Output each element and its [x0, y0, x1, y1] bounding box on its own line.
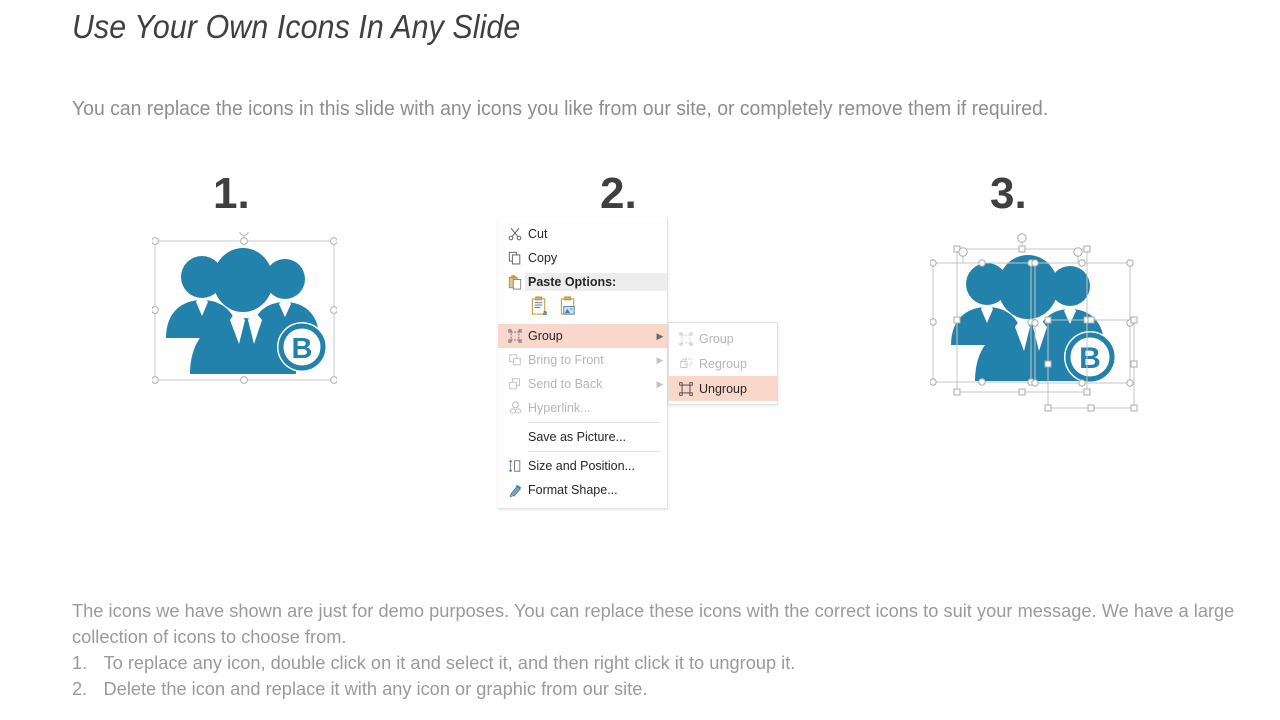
list-item-number: 1.: [72, 650, 94, 676]
step-number-1: 1.: [213, 172, 250, 216]
format-shape-icon: [502, 480, 528, 500]
menu-divider: [528, 451, 661, 452]
send-to-back-icon: [502, 374, 528, 394]
people-icon-ungrouped[interactable]: B: [930, 232, 1140, 414]
submenu-item-regroup[interactable]: Regroup: [669, 351, 777, 376]
footer-paragraph: The icons we have shown are just for dem…: [72, 598, 1234, 650]
group-icon: [673, 329, 699, 349]
svg-text:B: B: [1079, 342, 1101, 375]
paste-keep-text-icon[interactable]: a: [530, 296, 549, 320]
list-item-text: To replace any icon, double click on it …: [104, 650, 796, 676]
group-icon: [502, 326, 528, 346]
menu-item-label: Group: [528, 329, 653, 343]
menu-item-format-shape[interactable]: Format Shape...: [498, 478, 667, 502]
list-item-number: 2.: [72, 676, 94, 702]
chevron-right-icon: ▶: [653, 379, 667, 390]
step-number-2: 2.: [600, 172, 637, 216]
menu-item-send-to-back[interactable]: Send to Back ▶: [498, 372, 667, 396]
submenu-item-ungroup[interactable]: Ungroup: [669, 376, 777, 401]
menu-item-cut[interactable]: Cut: [498, 222, 667, 246]
menu-item-label: Save as Picture...: [528, 430, 667, 444]
list-item: 2. Delete the icon and replace it with a…: [72, 676, 1234, 702]
regroup-icon: [673, 354, 699, 374]
rotation-handle: [240, 232, 249, 235]
menu-item-copy[interactable]: Copy: [498, 246, 667, 270]
svg-text:B: B: [292, 333, 313, 365]
list-item: 1. To replace any icon, double click on …: [72, 650, 1234, 676]
no-icon: [502, 427, 528, 447]
menu-item-label: Paste Options:: [525, 273, 667, 291]
rotation-handle: [1018, 234, 1026, 242]
rotation-handle: [1074, 248, 1082, 256]
submenu-item-group[interactable]: Group: [669, 326, 777, 351]
menu-item-save-as-picture[interactable]: Save as Picture...: [498, 425, 667, 449]
paste-options-icons[interactable]: a: [498, 294, 667, 324]
people-group-icon: B: [166, 248, 327, 374]
menu-item-size-and-position[interactable]: Size and Position...: [498, 454, 667, 478]
context-menu[interactable]: Cut Copy Paste Options: a: [498, 218, 668, 509]
hyperlink-icon: [502, 398, 528, 418]
menu-divider: [528, 422, 661, 423]
submenu-item-label: Group: [699, 332, 777, 346]
menu-item-label: Copy: [528, 251, 667, 265]
submenu-item-label: Ungroup: [699, 382, 777, 396]
footer-text-block: The icons we have shown are just for dem…: [72, 598, 1234, 702]
chevron-right-icon: ▶: [653, 331, 667, 342]
menu-item-label: Cut: [528, 227, 667, 241]
menu-item-group[interactable]: Group ▶: [498, 324, 667, 348]
menu-item-label: Format Shape...: [528, 483, 667, 497]
menu-item-label: Send to Back: [528, 377, 653, 391]
menu-item-hyperlink[interactable]: Hyperlink...: [498, 396, 667, 420]
footer-list: 1. To replace any icon, double click on …: [72, 650, 1234, 702]
menu-item-label: Bring to Front: [528, 353, 653, 367]
rotation-handle: [959, 248, 967, 256]
paste-picture-icon[interactable]: [559, 296, 578, 320]
chevron-right-icon: ▶: [653, 355, 667, 366]
size-position-icon: [502, 456, 528, 476]
menu-item-bring-to-front[interactable]: Bring to Front ▶: [498, 348, 667, 372]
menu-header-paste-options: Paste Options:: [498, 270, 667, 294]
group-submenu[interactable]: Group Regroup Ungroup: [668, 322, 778, 405]
step-number-3: 3.: [990, 172, 1027, 216]
people-icon-grouped[interactable]: B: [152, 232, 337, 384]
page-title: Use Your Own Icons In Any Slide: [72, 8, 520, 46]
slide-canvas: Use Your Own Icons In Any Slide You can …: [0, 0, 1280, 720]
submenu-item-label: Regroup: [699, 357, 777, 371]
menu-item-label: Size and Position...: [528, 459, 667, 473]
copy-icon: [502, 248, 528, 268]
list-item-text: Delete the icon and replace it with any …: [104, 676, 648, 702]
bring-to-front-icon: [502, 350, 528, 370]
menu-item-label: Hyperlink...: [528, 401, 667, 415]
intro-paragraph: You can replace the icons in this slide …: [72, 94, 1154, 124]
ungroup-icon: [673, 379, 699, 399]
scissors-icon: [502, 224, 528, 244]
svg-text:a: a: [543, 308, 548, 317]
